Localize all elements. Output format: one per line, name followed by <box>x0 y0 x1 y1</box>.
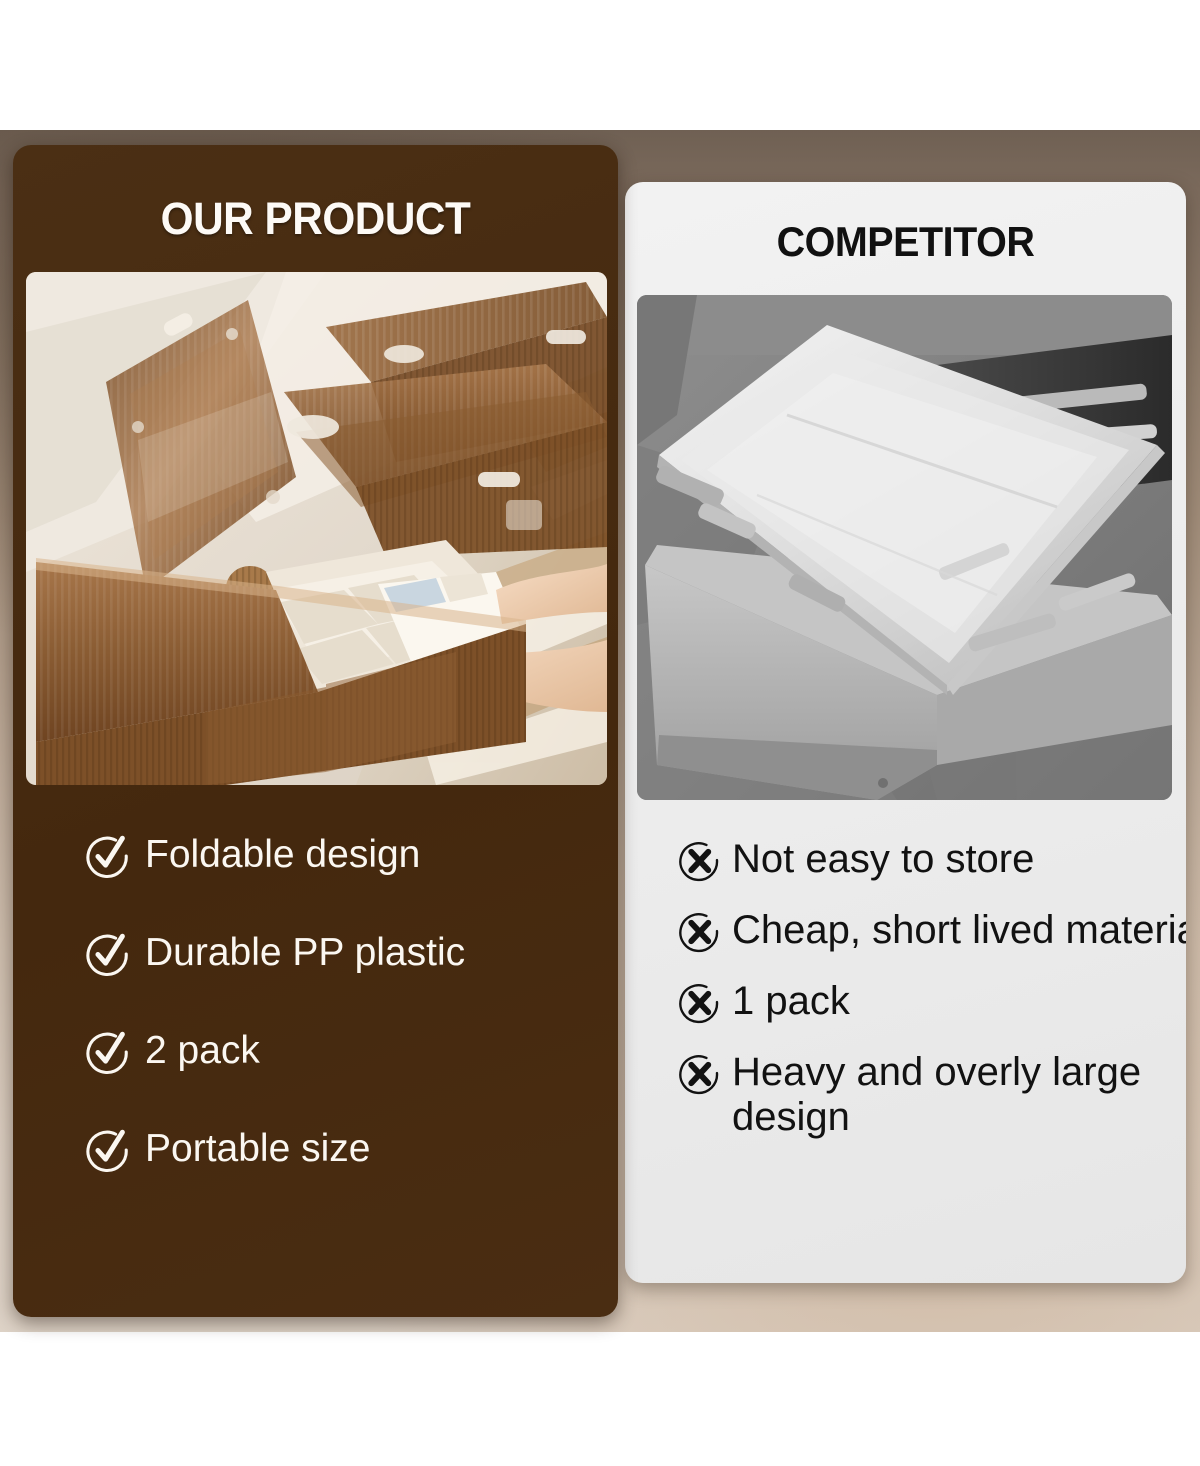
feature-item: Not easy to store <box>678 837 1186 883</box>
feature-item: Foldable design <box>85 833 618 879</box>
feature-label: Heavy and overly large design <box>732 1050 1186 1140</box>
check-circle-icon <box>85 833 131 879</box>
feature-item: Portable size <box>85 1127 618 1173</box>
our-product-panel: OUR PRODUCT <box>13 145 618 1317</box>
x-circle-icon <box>678 1052 722 1096</box>
feature-label: Portable size <box>145 1127 370 1171</box>
feature-item: 1 pack <box>678 979 1186 1025</box>
competitor-photo <box>637 295 1172 800</box>
feature-item: 2 pack <box>85 1029 618 1075</box>
feature-item: Heavy and overly large design <box>678 1050 1186 1140</box>
feature-item: Durable PP plastic <box>85 931 618 977</box>
our-product-feature-list: Foldable design Durable PP plastic <box>13 833 618 1225</box>
x-circle-icon <box>678 839 722 883</box>
feature-label: 2 pack <box>145 1029 260 1073</box>
our-product-photo <box>26 272 607 785</box>
competitor-feature-list: Not easy to store Cheap, short lived mat… <box>625 837 1186 1165</box>
comparison-infographic: OUR PRODUCT <box>0 0 1200 1466</box>
feature-label: Cheap, short lived material <box>732 908 1186 953</box>
x-circle-icon <box>678 981 722 1025</box>
competitor-panel: COMPETITOR <box>625 182 1186 1283</box>
feature-label: 1 pack <box>732 979 850 1024</box>
feature-label: Not easy to store <box>732 837 1034 882</box>
x-circle-icon <box>678 910 722 954</box>
check-circle-icon <box>85 931 131 977</box>
check-circle-icon <box>85 1127 131 1173</box>
competitor-title: COMPETITOR <box>642 218 1169 266</box>
feature-label: Foldable design <box>145 833 420 877</box>
feature-item: Cheap, short lived material <box>678 908 1186 954</box>
our-product-title: OUR PRODUCT <box>31 193 600 245</box>
feature-label: Durable PP plastic <box>145 931 465 975</box>
check-circle-icon <box>85 1029 131 1075</box>
